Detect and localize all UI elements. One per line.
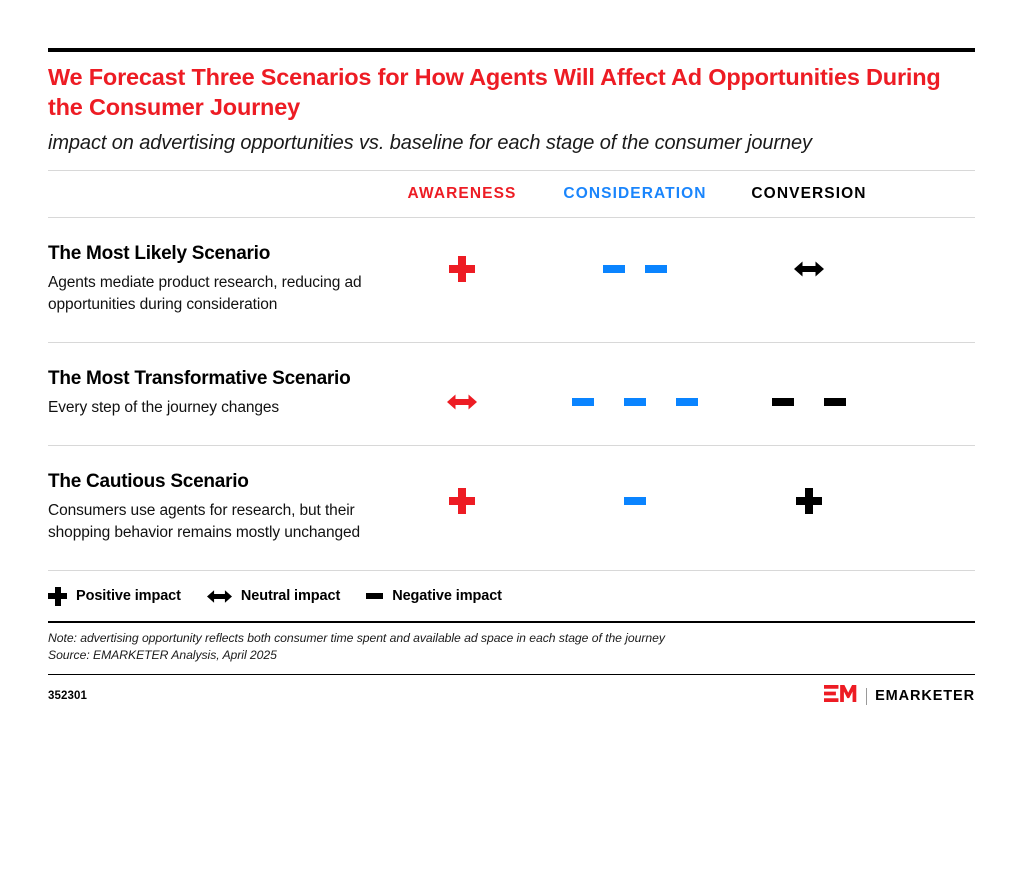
minus-icon — [603, 265, 625, 273]
column-header-awareness: AWARENESS — [383, 185, 541, 203]
minus-icon — [824, 398, 846, 406]
scenario-label: The Cautious Scenario Consumers use agen… — [48, 470, 383, 544]
plus-icon — [796, 488, 822, 514]
legend-label: Neutral impact — [241, 588, 340, 604]
table-row: The Cautious Scenario Consumers use agen… — [48, 446, 975, 570]
minus-icon — [645, 265, 667, 273]
cell-consideration — [541, 488, 729, 514]
double-arrow-icon — [207, 589, 232, 604]
brand-separator — [866, 688, 867, 705]
legend-label: Negative impact — [392, 588, 502, 604]
page-subtitle: impact on advertising opportunities vs. … — [48, 130, 975, 156]
scenario-label: The Most Likely Scenario Agents mediate … — [48, 242, 383, 316]
scenario-description: Every step of the journey changes — [48, 397, 365, 419]
cell-awareness — [383, 488, 541, 514]
legend-item-negative: Negative impact — [366, 588, 502, 604]
cell-conversion — [729, 256, 889, 282]
column-header-consideration: CONSIDERATION — [541, 185, 729, 203]
scenario-title: The Most Transformative Scenario — [48, 367, 365, 391]
scenario-description: Consumers use agents for research, but t… — [48, 500, 365, 544]
page-title: We Forecast Three Scenarios for How Agen… — [48, 63, 975, 122]
footnote-note: Note: advertising opportunity reflects b… — [48, 630, 975, 647]
legend-item-neutral: Neutral impact — [207, 588, 340, 604]
scenario-title: The Cautious Scenario — [48, 470, 365, 494]
cell-awareness — [383, 393, 541, 411]
legend-label: Positive impact — [76, 588, 181, 604]
table-row: The Most Transformative Scenario Every s… — [48, 343, 975, 445]
column-header-conversion: CONVERSION — [729, 185, 889, 203]
footer-bar: 352301 EMARKETER — [48, 684, 975, 708]
plus-icon — [449, 488, 475, 514]
scenario-symbols — [383, 242, 975, 282]
double-arrow-icon — [447, 393, 477, 411]
scenario-symbols — [383, 367, 975, 411]
cell-awareness — [383, 256, 541, 282]
legend: Positive impact Neutral impact Negative … — [48, 571, 975, 621]
footnote-source: Source: EMARKETER Analysis, April 2025 — [48, 647, 975, 664]
plus-icon — [449, 256, 475, 282]
minus-icon — [572, 398, 594, 406]
cell-conversion — [729, 393, 889, 411]
minus-icon — [772, 398, 794, 406]
minus-icon — [366, 593, 383, 599]
scenario-label: The Most Transformative Scenario Every s… — [48, 367, 383, 419]
table-row: The Most Likely Scenario Agents mediate … — [48, 218, 975, 342]
emarketer-mark-icon — [824, 684, 858, 708]
brand-logo: EMARKETER — [824, 684, 975, 708]
footer-divider — [48, 621, 975, 623]
minus-icon — [624, 497, 646, 505]
report-id: 352301 — [48, 690, 87, 702]
scenario-title: The Most Likely Scenario — [48, 242, 365, 266]
minus-icon — [624, 398, 646, 406]
footer-bottom-rule — [48, 674, 975, 676]
minus-icon — [676, 398, 698, 406]
top-rule — [48, 48, 975, 52]
cell-consideration — [541, 256, 729, 282]
double-arrow-icon — [794, 260, 824, 278]
brand-name: EMARKETER — [875, 688, 975, 704]
cell-consideration — [541, 393, 729, 411]
plus-icon — [48, 587, 67, 606]
infographic-page: We Forecast Three Scenarios for How Agen… — [0, 48, 1023, 886]
legend-item-positive: Positive impact — [48, 587, 181, 606]
scenario-description: Agents mediate product research, reducin… — [48, 272, 365, 316]
cell-conversion — [729, 488, 889, 514]
scenario-symbols — [383, 470, 975, 514]
column-header-row: AWARENESS CONSIDERATION CONVERSION — [48, 171, 975, 217]
